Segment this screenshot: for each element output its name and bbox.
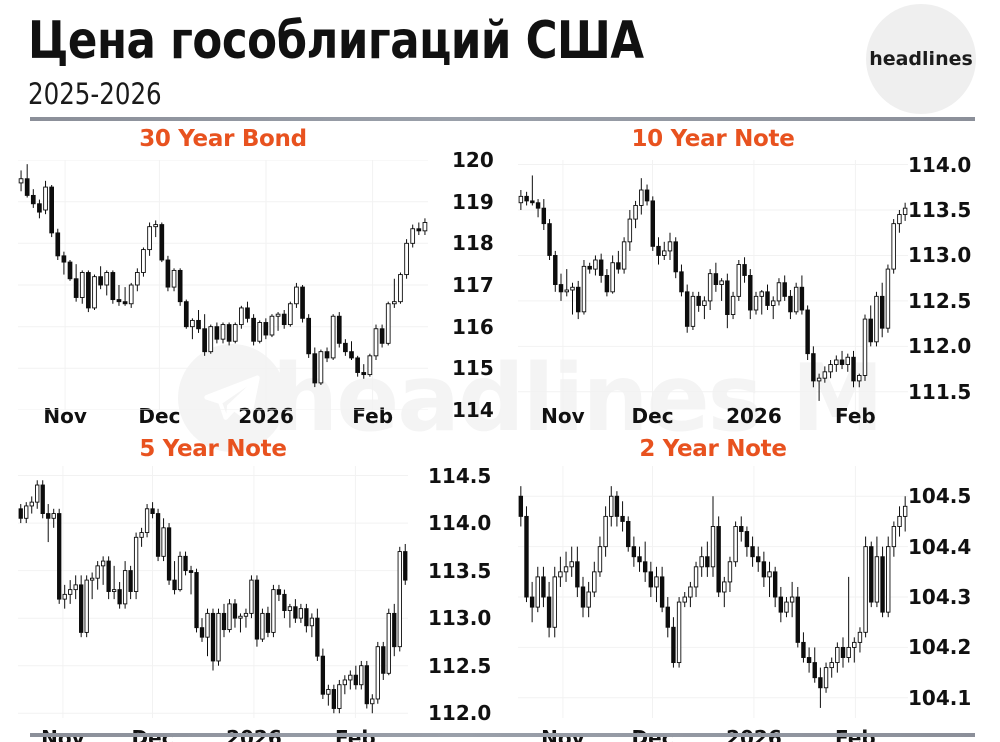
chart-panel-bottom-right: 2 Year Note (500, 436, 1000, 736)
plot-area-bottom-right (518, 466, 908, 718)
chart-title-top-right: 10 Year Note (518, 126, 908, 152)
chart-title-bottom-left: 5 Year Note (18, 436, 408, 462)
page-subtitle: 2025-2026 (28, 78, 162, 110)
chart-title-top-left: 30 Year Bond (18, 126, 428, 152)
headlines-logo: headlines (866, 4, 976, 114)
header-divider (30, 117, 975, 121)
logo-label: headlines (869, 48, 973, 70)
chart-panel-top-left: 30 Year Bond (0, 126, 500, 426)
chart-panel-top-right: 10 Year Note (500, 126, 1000, 426)
infographic-page: headlines M Цена гособлигаций США 2025-2… (0, 0, 1000, 742)
chart-panel-bottom-left: 5 Year Note (0, 436, 500, 736)
page-title: Цена гособлигаций США (28, 12, 644, 70)
plot-area-top-left (18, 160, 428, 410)
header: Цена гособлигаций США 2025-2026 (0, 0, 1000, 120)
plot-area-bottom-left (18, 466, 408, 718)
plot-area-top-right (518, 160, 908, 410)
chart-title-bottom-right: 2 Year Note (518, 436, 908, 462)
footer-divider (30, 733, 975, 737)
